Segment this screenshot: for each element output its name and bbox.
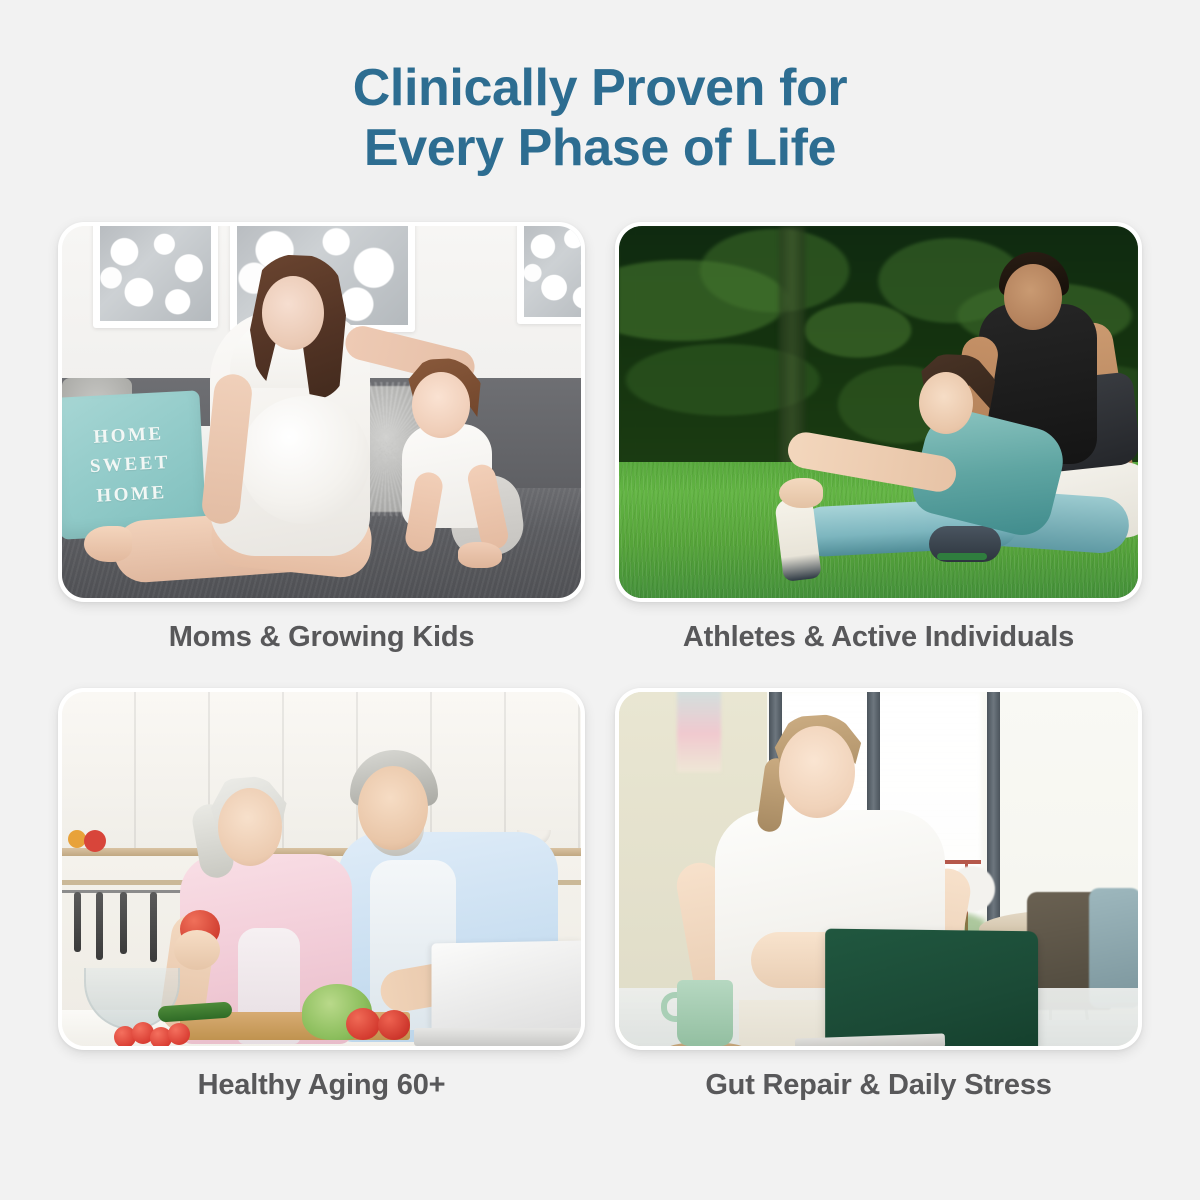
card-caption: Healthy Aging 60+ bbox=[58, 1069, 585, 1102]
laptop-screen bbox=[825, 929, 1038, 1046]
photo-moms-growing-kids: HOME SWEET HOME bbox=[62, 226, 581, 598]
mother-head bbox=[262, 276, 324, 350]
pillow-text-line-2: SWEET bbox=[89, 448, 171, 482]
woman-head bbox=[218, 788, 282, 866]
apple-fruit bbox=[84, 830, 106, 852]
tomato bbox=[346, 1008, 380, 1040]
kitchen-utensil bbox=[120, 892, 127, 954]
photo-card-frame bbox=[615, 688, 1142, 1050]
running-shoe bbox=[929, 526, 1001, 562]
photo-card-frame bbox=[58, 688, 585, 1050]
laptop-base bbox=[414, 1028, 581, 1046]
wall-art-frame bbox=[93, 226, 218, 328]
woman-hand bbox=[174, 930, 220, 970]
man-head bbox=[1004, 264, 1062, 330]
pillow-text-line-3: HOME bbox=[96, 478, 168, 511]
audience-card-grid: HOME SWEET HOME bbox=[58, 222, 1142, 1102]
kitchen-utensil bbox=[96, 892, 103, 960]
tomato bbox=[378, 1010, 410, 1040]
toddler-head bbox=[412, 372, 470, 438]
wall-poster bbox=[677, 692, 721, 772]
woman-head bbox=[919, 372, 973, 434]
photo-gut-repair-daily-stress bbox=[619, 692, 1138, 1046]
pillow-text-line-1: HOME bbox=[93, 419, 165, 452]
mother-foot bbox=[84, 526, 132, 562]
audience-card-healthy-aging-60-plus[interactable]: Healthy Aging 60+ bbox=[58, 688, 585, 1102]
laptop-screen bbox=[431, 940, 581, 1033]
photo-athletes-active-individuals bbox=[619, 226, 1138, 598]
audience-card-gut-repair-daily-stress[interactable]: Gut Repair & Daily Stress bbox=[615, 688, 1142, 1102]
photo-card-frame: HOME SWEET HOME bbox=[58, 222, 585, 602]
card-caption: Moms & Growing Kids bbox=[58, 621, 585, 654]
audience-card-athletes-active-individuals[interactable]: Athletes & Active Individuals bbox=[615, 222, 1142, 654]
page-title-line-1: Clinically Proven for bbox=[353, 59, 847, 117]
card-caption: Athletes & Active Individuals bbox=[615, 621, 1142, 654]
woman-head bbox=[779, 726, 855, 818]
page-title: Clinically Proven for Every Phase of Lif… bbox=[0, 58, 1200, 179]
photo-healthy-aging bbox=[62, 692, 581, 1046]
promo-page: Clinically Proven for Every Phase of Lif… bbox=[0, 0, 1200, 1200]
toddler-foot bbox=[458, 542, 502, 568]
kitchen-utensil bbox=[150, 892, 157, 962]
photo-card-frame bbox=[615, 222, 1142, 602]
wall-art-frame bbox=[517, 226, 581, 324]
green-mug bbox=[677, 980, 733, 1046]
page-title-line-2: Every Phase of Life bbox=[0, 118, 1200, 178]
woman-hand bbox=[779, 478, 823, 508]
card-caption: Gut Repair & Daily Stress bbox=[615, 1069, 1142, 1102]
audience-card-moms-growing-kids[interactable]: HOME SWEET HOME bbox=[58, 222, 585, 654]
kitchen-cabinets bbox=[62, 692, 581, 852]
kitchen-utensil bbox=[74, 892, 81, 952]
man-head bbox=[358, 766, 428, 850]
pregnant-belly bbox=[240, 396, 370, 524]
